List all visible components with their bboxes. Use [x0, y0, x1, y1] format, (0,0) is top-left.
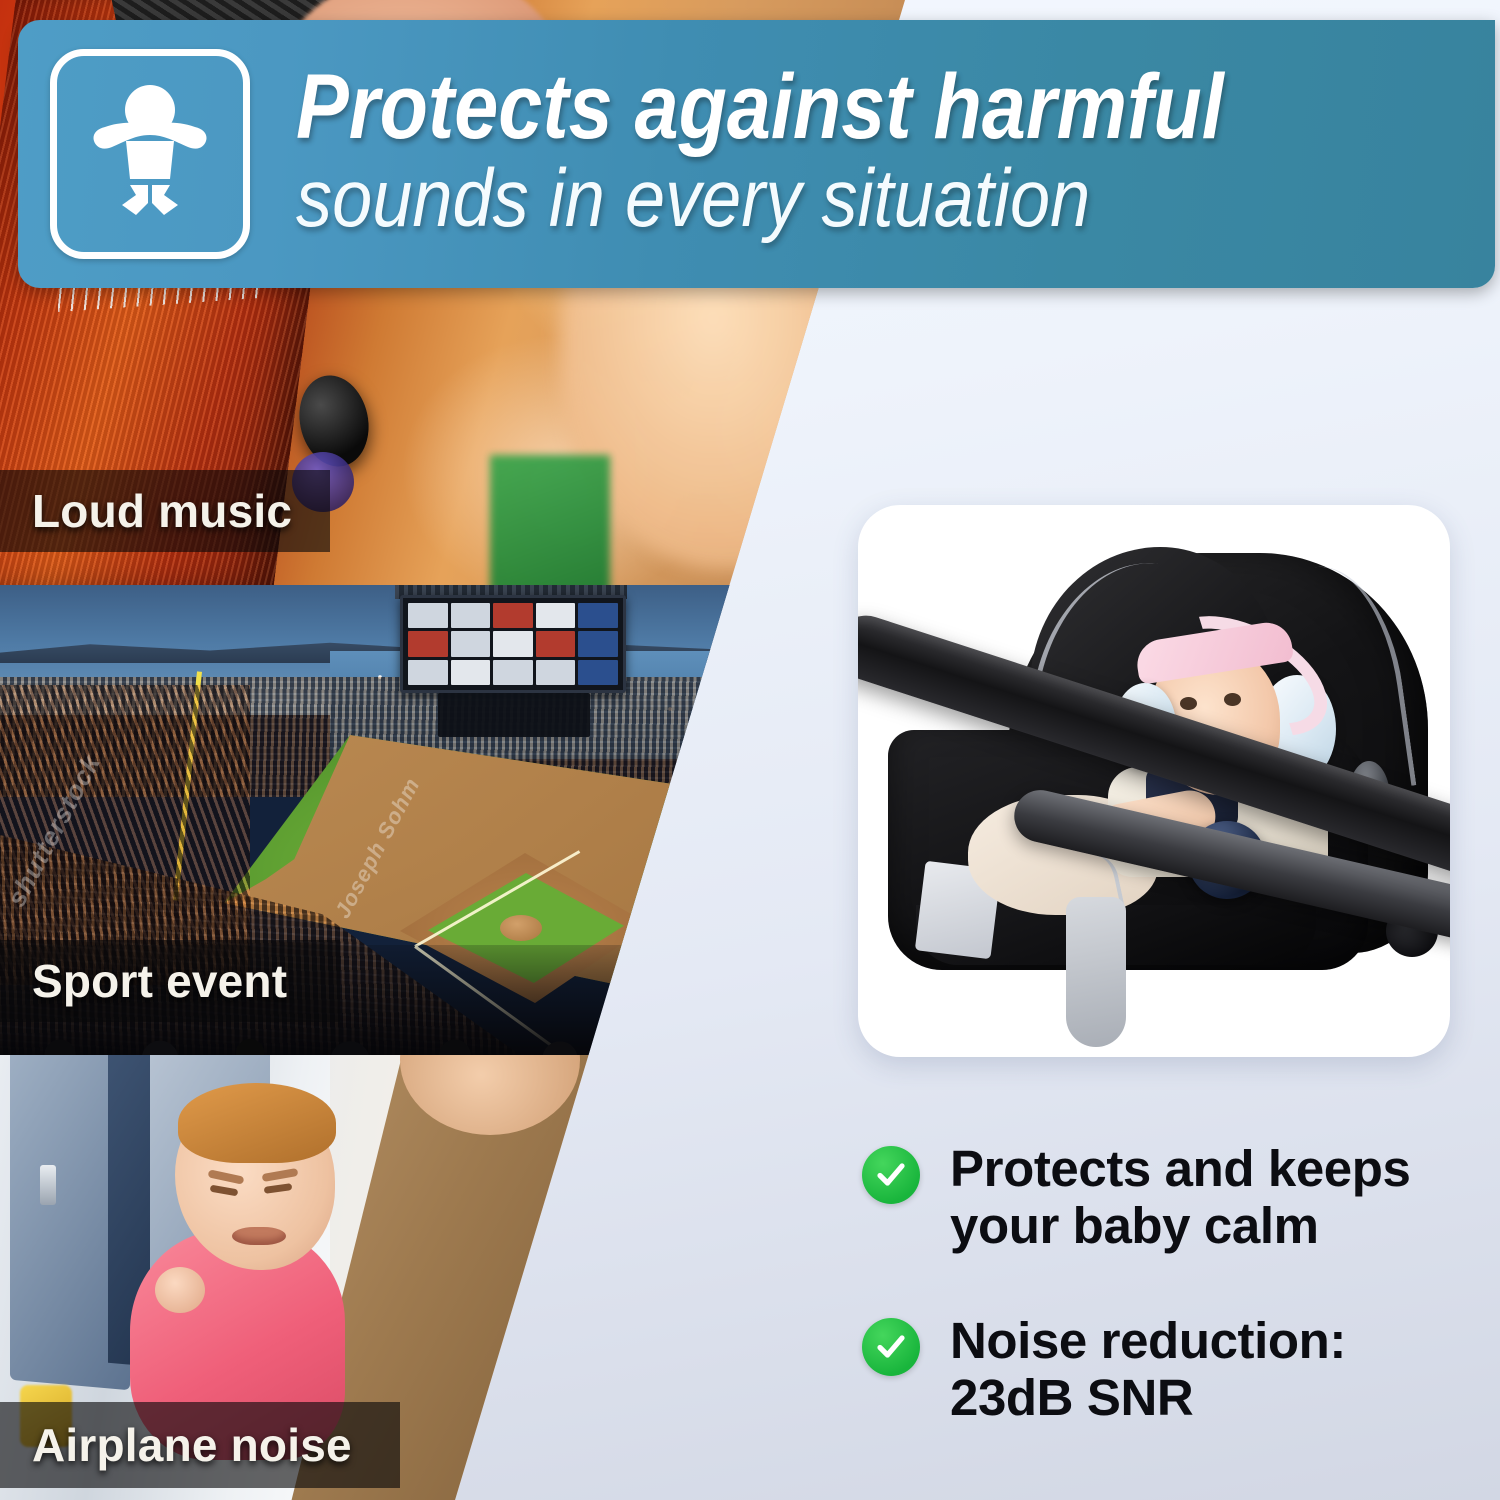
headline-line-2: sounds in every situation	[296, 160, 1245, 239]
check-icon	[862, 1318, 920, 1376]
tray-latch	[40, 1165, 56, 1205]
baby-eye	[1224, 693, 1241, 706]
label-band-airplane-noise: Airplane noise	[0, 1402, 400, 1488]
headline-banner: Protects against harmful sounds in every…	[18, 20, 1495, 288]
baby-icon	[92, 85, 208, 223]
label-loud-music: Loud music	[0, 484, 292, 538]
headline-line-1: Protects against harmful	[296, 63, 1224, 151]
bullet-item: Noise reduction: 23dB SNR	[862, 1312, 1462, 1426]
check-icon	[862, 1146, 920, 1204]
product-photo-card	[858, 505, 1450, 1057]
infographic-root: shutterstock Joseph Sohm Joseph Sohm shu…	[0, 0, 1500, 1500]
bullet-text: Protects and keeps your baby calm	[950, 1140, 1462, 1254]
baby-hair	[178, 1083, 336, 1163]
feature-bullet-list: Protects and keeps your baby calm Noise …	[862, 1140, 1462, 1484]
label-band-loud-music: Loud music	[0, 470, 330, 552]
label-band-sport-event: Sport event	[0, 940, 340, 1022]
scoreboard-ads	[408, 603, 618, 685]
grey-tassel-toy	[1066, 897, 1126, 1047]
pitchers-mound	[500, 915, 542, 941]
headline: Protects against harmful sounds in every…	[296, 63, 1375, 244]
baby-eye	[1180, 697, 1197, 710]
bullet-text: Noise reduction: 23dB SNR	[950, 1312, 1462, 1426]
baby-icon-badge	[50, 49, 250, 259]
stadium-scoreboard	[400, 595, 626, 693]
scoreboard-screen	[438, 693, 590, 737]
bullet-item: Protects and keeps your baby calm	[862, 1140, 1462, 1254]
green-background-accent	[490, 455, 610, 585]
label-airplane-noise: Airplane noise	[0, 1418, 352, 1472]
baby-fist	[155, 1267, 205, 1313]
label-sport-event: Sport event	[0, 954, 287, 1008]
baby-mouth	[232, 1227, 286, 1245]
